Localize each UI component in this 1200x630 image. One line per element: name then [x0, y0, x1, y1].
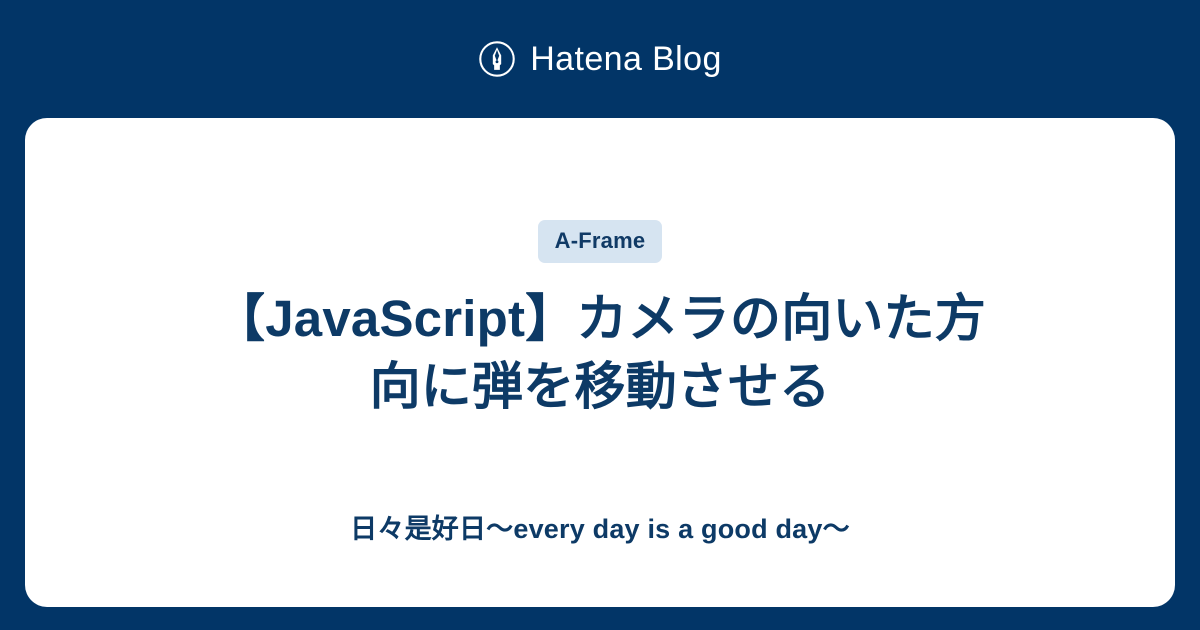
brand-header: Hatena Blog — [0, 0, 1200, 118]
category-badge[interactable]: A-Frame — [538, 220, 663, 263]
hatena-blog-logo — [478, 40, 516, 78]
entry-card-content: A-Frame 【JavaScript】カメラの向いた 方向に弾を移動させる — [85, 118, 1115, 421]
fountain-pen-nib-circle-icon — [478, 40, 516, 78]
blog-name-label: 日々是好日〜every day is a good day〜 — [25, 513, 1175, 545]
category-badge-row: A-Frame — [538, 220, 663, 263]
entry-title: 【JavaScript】カメラの向いた 方向に弾を移動させる — [200, 285, 1000, 421]
brand-name-label: Hatena Blog — [530, 42, 722, 76]
entry-card: A-Frame 【JavaScript】カメラの向いた 方向に弾を移動させる 日… — [25, 118, 1175, 607]
entry-title-line-1: 【JavaScript】カメラの向いた — [214, 290, 935, 347]
og-image-root: Hatena Blog A-Frame 【JavaScript】カメラの向いた … — [0, 0, 1200, 630]
